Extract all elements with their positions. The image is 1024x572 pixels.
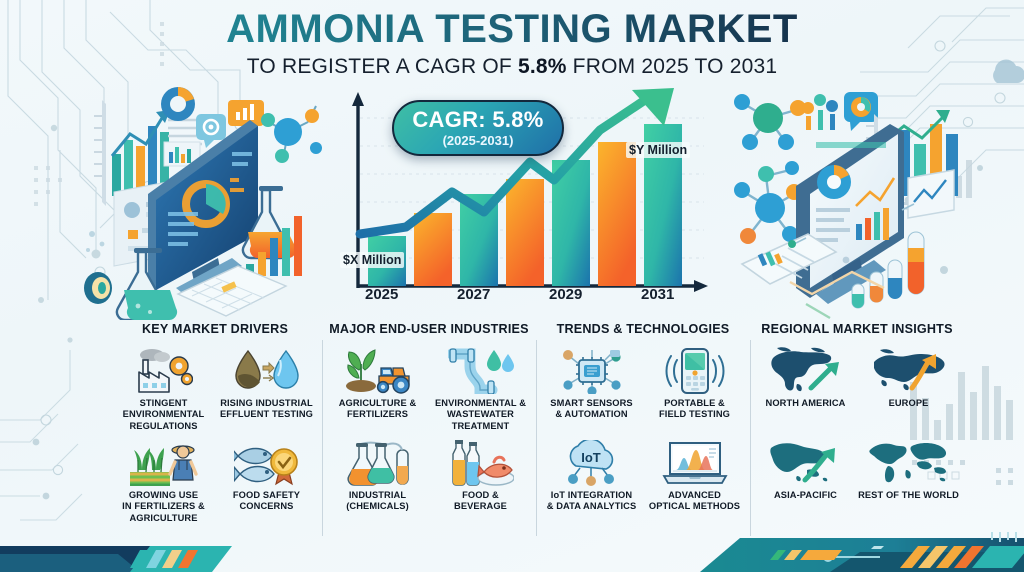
iot-cloud-icon: IoT <box>560 438 624 486</box>
smart-sensor-chip-icon <box>561 346 623 394</box>
industry-item-wastewater: ENVIRONMENTAL &WASTEWATERTREATMENT <box>429 346 532 438</box>
trend-item-iot: IoT IoT INTEGRATION& DATA ANALYTICS <box>540 438 643 530</box>
header-block: AMMONIA TESTING MARKET TO REGISTER A CAG… <box>0 8 1024 79</box>
item-label: FOOD &BEVERAGE <box>454 490 507 513</box>
item-label: IoT INTEGRATION& DATA ANALYTICS <box>547 490 637 513</box>
subtitle-cagr-value: 5.8% <box>518 55 567 78</box>
farm-field-farmer-icon <box>130 438 198 486</box>
item-label: PORTABLE &FIELD TESTING <box>659 398 730 421</box>
item-label: GROWING USEIN FERTILIZERS &AGRICULTURE <box>122 490 205 524</box>
industry-item-agriculture: AGRICULTURE &FERTILIZERS <box>326 346 429 438</box>
chart-x-axis-labels: 2025 2027 2029 2031 <box>332 286 722 308</box>
driver-item-effluent: RISING INDUSTRIALEFFLUENT TESTING <box>215 346 318 438</box>
donut-chart-icon <box>161 87 195 121</box>
section-title: KEY MARKET DRIVERS <box>112 322 318 336</box>
infographic-canvas: AMMONIA TESTING MARKET TO REGISTER A CAG… <box>0 0 1024 572</box>
start-value-label: $X Million <box>340 252 404 268</box>
driver-item-fertilizers: GROWING USEIN FERTILIZERS &AGRICULTURE <box>112 438 215 530</box>
section-title: MAJOR END-USER INDUSTRIES <box>326 322 532 336</box>
tractor <box>377 368 408 393</box>
industry-item-food-beverage: FOOD &BEVERAGE <box>429 438 532 530</box>
bottles-fish-icon <box>448 438 514 486</box>
pipe-water-icon <box>448 346 514 394</box>
end-value-label: $Y Million <box>626 142 690 158</box>
asia-pacific-map-icon <box>767 438 845 486</box>
factory-gear-icon <box>135 346 193 394</box>
page-title: AMMONIA TESTING MARKET <box>0 8 1024 50</box>
section-title: TRENDS & TECHNOLOGIES <box>540 322 746 336</box>
section-key-market-drivers: KEY MARKET DRIVERS <box>108 322 322 540</box>
item-label: ENVIRONMENTAL &WASTEWATERTREATMENT <box>435 398 526 432</box>
quality-badge <box>271 449 297 484</box>
subtitle-suffix: FROM 2025 TO 2031 <box>567 55 778 78</box>
section-major-end-user-industries: MAJOR END-USER INDUSTRIES <box>322 322 536 540</box>
trend-item-optical-methods: ADVANCEDOPTICAL METHODS <box>643 438 746 530</box>
item-label: ADVANCEDOPTICAL METHODS <box>649 490 740 513</box>
section-trends-technologies: TRENDS & TECHNOLOGIES <box>536 322 750 540</box>
driver-item-regulations: STINGENTENVIRONMENTALREGULATIONS <box>112 346 215 438</box>
fish-upper <box>234 449 272 464</box>
right-molecule-analytics-illustration <box>722 82 982 320</box>
item-label: STINGENTENVIRONMENTALREGULATIONS <box>123 398 205 432</box>
section-regional-market-insights: REGIONAL MARKET INSIGHTS <box>750 322 964 540</box>
item-label: RISING INDUSTRIALEFFLUENT TESTING <box>220 398 313 421</box>
item-label: ASIA-PACIFIC <box>774 490 837 501</box>
effluent-droplet-icon <box>234 346 300 394</box>
laptop-spectrum-icon <box>662 438 728 486</box>
cagr-badge-period: (2025-2031) <box>443 134 514 147</box>
bar-2030 <box>598 142 636 286</box>
market-growth-chart: CAGR: 5.8% (2025-2031) $X Million $Y Mil… <box>332 88 722 318</box>
section-title: REGIONAL MARKET INSIGHTS <box>754 322 960 336</box>
tractor-plant-icon <box>343 346 413 394</box>
region-item-europe: EUROPE <box>857 346 960 438</box>
cagr-badge-value: CAGR: 5.8% <box>412 109 543 131</box>
left-lab-analytics-illustration <box>72 82 328 320</box>
trend-item-smart-sensors: SMART SENSORS& AUTOMATION <box>540 346 643 438</box>
north-america-map-icon <box>767 346 845 394</box>
trend-item-portable-testing: PORTABLE &FIELD TESTING <box>643 346 746 438</box>
driver-item-food-safety: FOOD SAFETYCONCERNS <box>215 438 318 530</box>
x-tick-2029: 2029 <box>549 286 582 303</box>
region-item-north-america: NORTH AMERICA <box>754 346 857 438</box>
europe-map-icon <box>870 346 948 394</box>
x-tick-2027: 2027 <box>457 286 490 303</box>
x-tick-2025: 2025 <box>365 286 398 303</box>
page-subtitle: TO REGISTER A CAGR OF 5.8% FROM 2025 TO … <box>0 55 1024 79</box>
portable-device-icon <box>664 346 726 394</box>
subtitle-prefix: TO REGISTER A CAGR OF <box>247 55 518 78</box>
world-map-icon <box>868 438 950 486</box>
bar-2026 <box>414 213 452 286</box>
flasks-icon <box>345 438 411 486</box>
svg-text:IoT: IoT <box>581 450 601 465</box>
region-item-rest-of-world: REST OF THE WORLD <box>857 438 960 530</box>
item-label: INDUSTRIAL(CHEMICALS) <box>346 490 409 513</box>
region-item-asia-pacific: ASIA-PACIFIC <box>754 438 857 530</box>
item-label: AGRICULTURE &FERTILIZERS <box>339 398 417 421</box>
bar-2028 <box>506 179 544 286</box>
item-label: SMART SENSORS& AUTOMATION <box>550 398 632 421</box>
insight-sections: KEY MARKET DRIVERS <box>108 322 964 540</box>
item-label: REST OF THE WORLD <box>858 490 959 501</box>
fish-lower <box>234 467 274 482</box>
cagr-badge: CAGR: 5.8% (2025-2031) <box>392 100 564 156</box>
fish-badge-icon <box>234 438 300 486</box>
farmer-figure <box>170 446 196 480</box>
item-label: FOOD SAFETYCONCERNS <box>233 490 300 513</box>
industry-item-industrial: INDUSTRIAL(CHEMICALS) <box>326 438 429 530</box>
x-tick-2031: 2031 <box>641 286 674 303</box>
footer-decoration-bar <box>0 532 1024 572</box>
item-label: EUROPE <box>889 398 929 409</box>
item-label: NORTH AMERICA <box>766 398 846 409</box>
